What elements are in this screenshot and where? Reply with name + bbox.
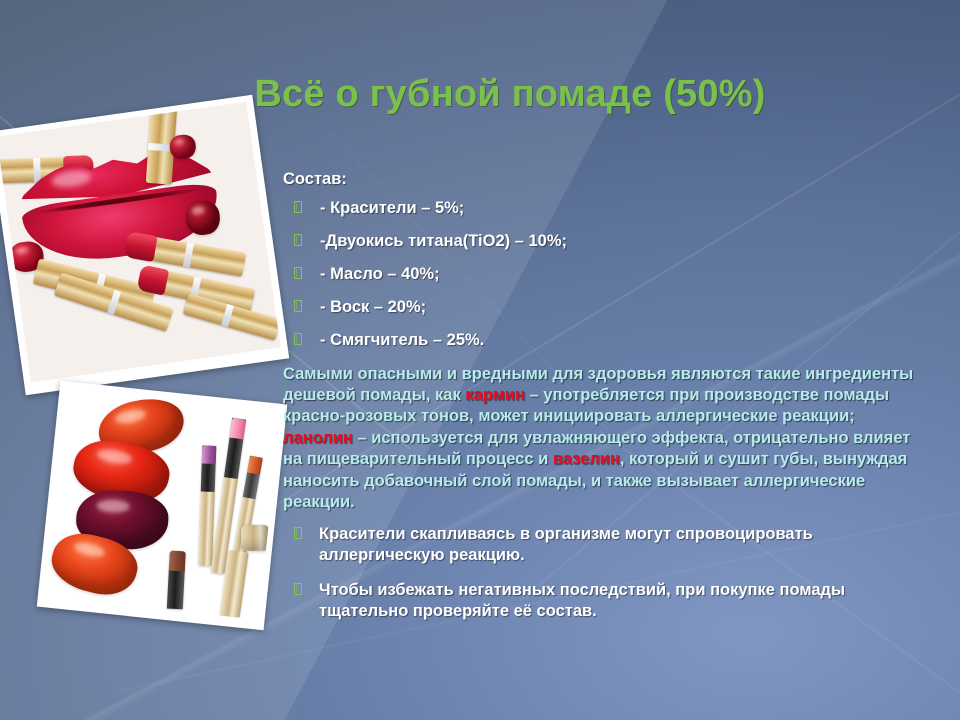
list-item: - Масло – 40%; [283,264,923,285]
list-item-label: -Двуокись титана(TiO2) – 10%; [320,232,567,250]
warning-paragraph: Самыми опасными и вредными для здоровья … [283,364,917,514]
lipstick-tube [167,551,186,610]
slide-title: Всё о губной помаде (50%) [180,73,840,116]
lipstick-cap [241,525,269,551]
list-item: Красители скапливаясь в организме могут … [283,524,923,566]
lips-photo-content [0,102,281,383]
list-item-label: - Красители – 5%; [320,199,464,217]
box-bullet-icon [294,300,302,312]
highlight-vaseline: вазелин [553,450,620,468]
lips-photo [0,95,289,395]
list-item: -Двуокись титана(TiO2) – 10%; [283,231,923,252]
list-item-label: - Воск – 20%; [320,298,426,316]
box-bullet-icon [294,333,302,345]
list-item-label: - Масло – 40%; [320,265,440,283]
highlight-carmine: кармин [465,386,525,404]
box-bullet-icon [294,583,302,595]
list-item: - Воск – 20%; [283,297,923,318]
highlight-lanolin: ланолин [283,429,353,447]
list-item: Чтобы избежать негативных последствий, п… [283,580,923,622]
box-bullet-icon [294,234,302,246]
list-item-label: - Смягчитель – 25%. [320,331,484,349]
list-item-label: Красители скапливаясь в организме могут … [319,525,813,564]
list-item-label: Чтобы избежать негативных последствий, п… [319,581,845,620]
box-bullet-icon [294,201,302,213]
presentation-slide: Всё о губной помаде (50%) Состав: - Крас… [0,0,960,720]
list-item: - Смягчитель – 25%. [283,330,923,351]
box-bullet-icon [294,267,302,279]
lipstick-bullets-photo [37,381,287,631]
composition-label: Состав: [283,170,923,189]
box-bullet-icon [294,527,302,539]
list-item: - Красители – 5%; [283,198,923,219]
lipstick-bullets-photo-content [44,386,281,619]
conclusions-list: Красители скапливаясь в организме могут … [283,524,923,622]
composition-list: - Красители – 5%; -Двуокись титана(TiO2)… [283,198,923,352]
slide-body: Состав: - Красители – 5%; -Двуокись тита… [283,170,923,636]
